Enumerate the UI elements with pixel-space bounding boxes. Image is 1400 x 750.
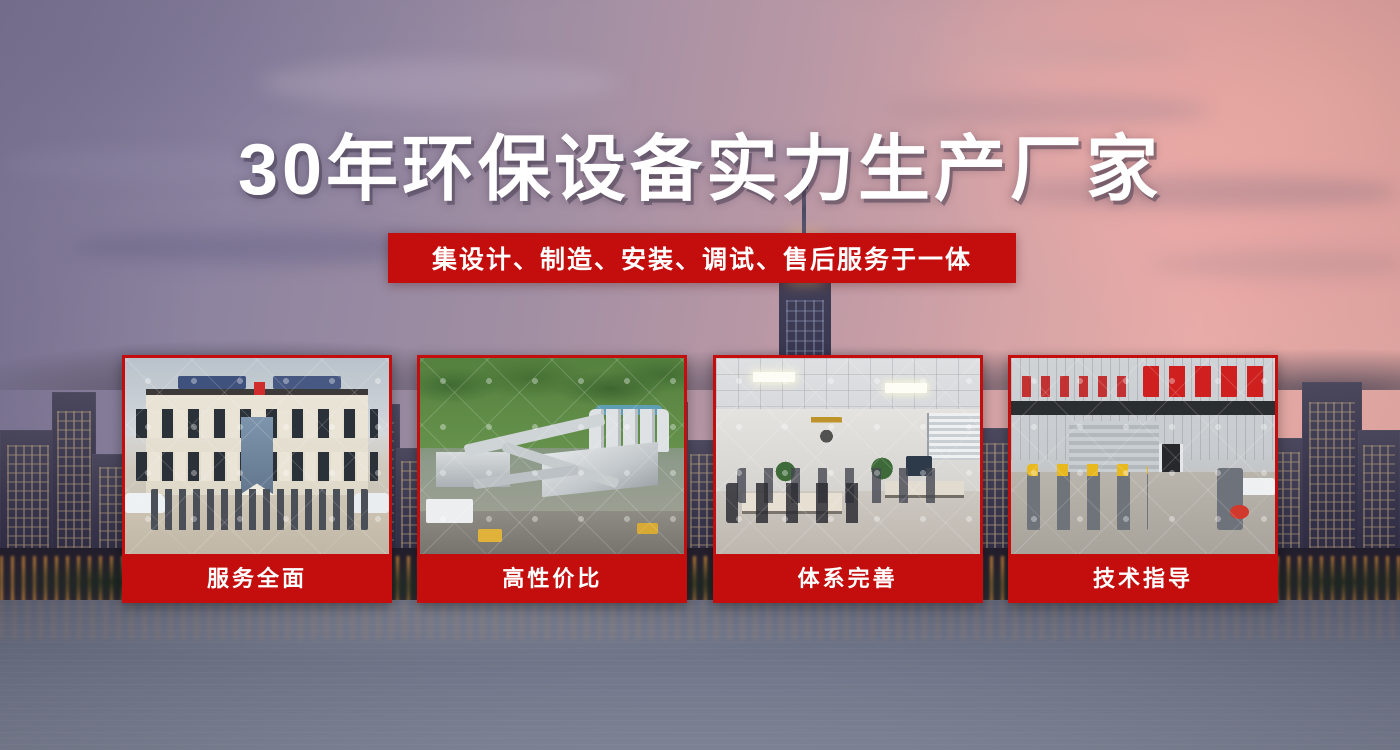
cloud-streak [880, 95, 1210, 125]
banner-subtitle-text: 集设计、制造、安装、调试、售后服务于一体 [432, 240, 972, 276]
feature-card[interactable]: 高性价比 [417, 355, 687, 603]
office-team-photo [716, 358, 980, 554]
feature-card-caption: 高性价比 [420, 554, 684, 600]
feature-card[interactable]: 服务全面 [122, 355, 392, 603]
feature-card-caption: 体系完善 [716, 554, 980, 600]
feature-card-caption-text: 技术指导 [1093, 561, 1193, 593]
feature-card-caption-text: 高性价比 [502, 561, 602, 593]
feature-card[interactable]: 体系完善 [713, 355, 983, 603]
banner-headline: 30年环保设备实力生产厂家 [0, 133, 1400, 209]
feature-card-caption-text: 服务全面 [207, 561, 307, 593]
cloud-streak [260, 60, 620, 106]
production-plant-aerial-photo [420, 358, 684, 554]
worker-training-photo [1011, 358, 1275, 554]
feature-card-caption: 技术指导 [1011, 554, 1275, 600]
feature-card[interactable]: 技术指导 [1008, 355, 1278, 603]
feature-card-caption-text: 体系完善 [798, 561, 898, 593]
water-reflection [0, 600, 1400, 640]
feature-card-row: 服务全面 高性价比 [122, 355, 1278, 603]
feature-card-caption: 服务全面 [125, 554, 389, 600]
hero-banner: 30年环保设备实力生产厂家 集设计、制造、安装、调试、售后服务于一体 [0, 0, 1400, 750]
company-headquarters-photo [125, 358, 389, 554]
cloud-streak [930, 40, 1190, 64]
banner-subtitle-bar: 集设计、制造、安装、调试、售后服务于一体 [388, 233, 1016, 283]
